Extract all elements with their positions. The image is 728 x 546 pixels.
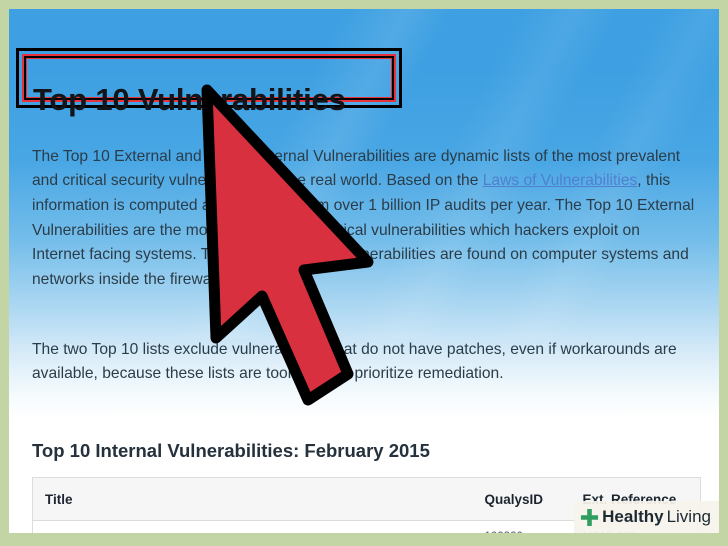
screenshot-root: Top 10 Vulnerabilities The Top 10 Extern… — [0, 0, 728, 546]
frame-top — [0, 0, 728, 9]
watermark: Healthy Living — [574, 501, 719, 533]
page-title: Top 10 Vulnerabilities — [33, 82, 346, 118]
watermark-light-text: Living — [667, 507, 711, 527]
exclusion-paragraph: The two Top 10 lists exclude vulnerabili… — [32, 338, 697, 387]
column-header-title[interactable]: Title — [33, 478, 485, 521]
intro-text-after-link: , this information is computed anonymous… — [32, 172, 694, 288]
green-cross-icon — [580, 508, 599, 527]
column-header-qualysid[interactable]: QualysID — [485, 478, 583, 521]
cell-title: Microsoft Internet Explorer Cumulative S… — [33, 521, 485, 534]
laws-of-vulnerabilities-link[interactable]: Laws of Vulnerabilities — [483, 172, 638, 189]
watermark-bold-text: Healthy — [602, 507, 663, 527]
frame-right — [719, 0, 728, 546]
section-subheading: Top 10 Internal Vulnerabilities: Februar… — [32, 440, 430, 462]
cell-qualys-id: 100220 — [485, 521, 583, 534]
article-page: Top 10 Vulnerabilities The Top 10 Extern… — [9, 9, 719, 533]
frame-left — [0, 0, 9, 546]
intro-paragraph: The Top 10 External and Top 10 Internal … — [32, 145, 697, 293]
frame-bottom — [0, 533, 728, 546]
